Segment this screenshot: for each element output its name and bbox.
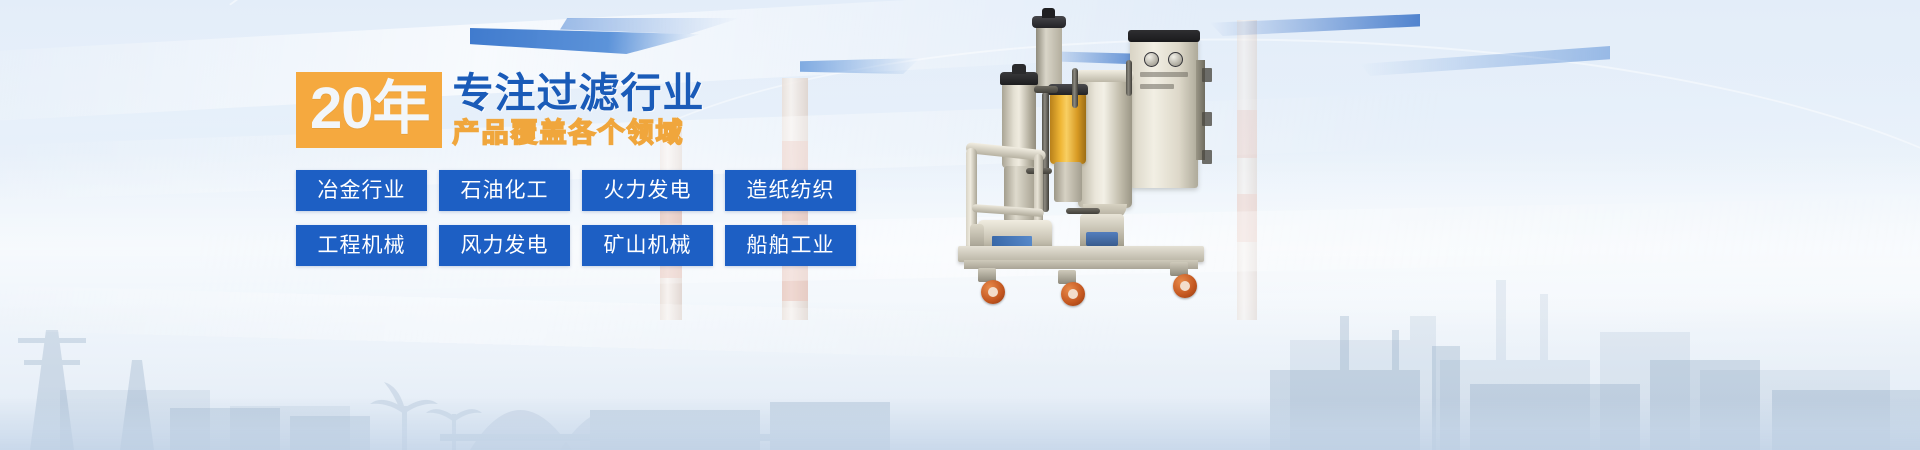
secondary-vessel-knob [1012,64,1026,74]
pipe-vertical-2 [1072,68,1078,108]
panel-vent-3 [1202,150,1212,164]
caster-rear-right [1173,274,1197,298]
headline-main: 专注过滤行业 [453,73,705,114]
product-image-filter-cart [930,8,1260,348]
yellow-filter-canister [1050,92,1086,164]
industry-tag-list: 冶金行业 石油化工 火力发电 造纸纺织 工程机械 风力发电 矿山机械 船舶工业 [296,170,856,266]
headline-texts: 专注过滤行业 产品覆盖各个领域 [453,73,705,147]
headline-row: 20年 专注过滤行业 产品覆盖各个领域 [296,72,856,148]
industry-tag-shipbuilding[interactable]: 船舶工业 [725,225,856,266]
cart-deck-underside [964,260,1198,269]
panel-vent-1 [1202,68,1212,82]
panel-vent-2 [1202,112,1212,126]
industry-tag-construction-machinery[interactable]: 工程机械 [296,225,427,266]
hero-banner: 20年 专注过滤行业 产品覆盖各个领域 冶金行业 石油化工 火力发电 造纸纺织 … [0,0,1920,450]
blue-swoosh-6-icon [1360,46,1610,76]
headline-sub: 产品覆盖各个领域 [453,120,705,147]
main-filter-tank [1078,78,1132,208]
caster-front-right [1061,282,1085,306]
industry-tag-metallurgy[interactable]: 冶金行业 [296,170,427,211]
panel-label-1 [1140,72,1188,77]
industry-tag-paper-textile[interactable]: 造纸纺织 [725,170,856,211]
industry-tag-petrochemical[interactable]: 石油化工 [439,170,570,211]
industry-tag-wind-power[interactable]: 风力发电 [439,225,570,266]
blue-swoosh-2-icon [560,18,740,34]
panel-gauge-1 [1144,52,1159,67]
caster-front-left [981,280,1005,304]
yellow-canister-base [1054,162,1082,202]
top-column [1036,24,1062,90]
control-panel [1130,38,1198,188]
control-panel-top-cap [1128,30,1200,42]
headline-block: 20年 专注过滤行业 产品覆盖各个领域 [296,72,856,148]
industry-tag-mining-machinery[interactable]: 矿山机械 [582,225,713,266]
top-column-knob [1042,8,1055,18]
pipe-horizontal-1 [1034,86,1058,93]
industry-tag-thermal-power[interactable]: 火力发电 [582,170,713,211]
panel-label-2 [1140,84,1174,89]
panel-gauge-2 [1168,52,1183,67]
blue-swoosh-1-icon [470,28,700,54]
pipe-vertical-3 [1126,60,1132,96]
pump-blue-band [1086,232,1118,246]
years-badge: 20年 [296,72,442,148]
ground-fade [0,398,1920,450]
